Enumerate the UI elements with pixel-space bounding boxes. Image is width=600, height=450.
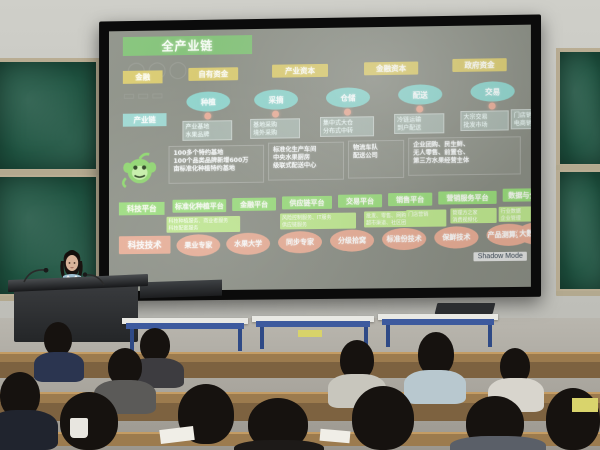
- info-panel-0: 100多个特约基地 100个品类品牌新增600万 亩标准化种植特约基地: [169, 145, 265, 184]
- chalk-tray-right-lower: [556, 291, 600, 296]
- projection-screen-frame: ◯◯◯ ▭▭▭ 全产业链 金融 自有资金 产业资本 金融资本 政府资金 产业链 …: [99, 14, 541, 301]
- row-label-industry-chain: 产业链: [123, 113, 167, 127]
- connector-dot-1: [272, 111, 279, 118]
- chalkboard-left-upper: [0, 58, 100, 173]
- student-body-a4: [404, 370, 466, 404]
- info-panel-3: 企业团购、民生鲜、 无人零售、前置仓、 第三方水果经营主体: [408, 136, 521, 176]
- platform-4: 销售平台: [388, 193, 432, 207]
- desk-leg-3b: [488, 325, 492, 347]
- platform-3: 交易平台: [338, 194, 382, 208]
- technology-2: 同步专家: [278, 231, 322, 253]
- finance-chip-2: 金融资本: [364, 61, 418, 75]
- student-body-a1: [34, 352, 84, 382]
- connector-dot-2: [344, 109, 351, 116]
- info-panel-2: 物流车队 配送公司: [348, 140, 404, 179]
- technology-1: 水果大学: [226, 233, 270, 255]
- desk-leg-2a: [260, 327, 264, 349]
- notes-paper-3: [572, 398, 598, 412]
- platform-sub-3: 门店营销: [406, 209, 446, 225]
- finance-chip-0: 自有资金: [188, 67, 238, 81]
- connector-dot-0: [204, 113, 211, 120]
- platform-sub-4: 管理方之家 消费视频化: [450, 208, 496, 224]
- student-body-b2: [0, 410, 58, 450]
- desk-front-3: [382, 319, 494, 325]
- podium: [14, 282, 138, 342]
- chain-oval-3: 配送: [398, 84, 442, 105]
- chain-detail-2: 集中式大仓 分布式中转: [320, 116, 374, 137]
- lecture-hall-photo: ◯◯◯ ▭▭▭ 全产业链 金融 自有资金 产业资本 金融资本 政府资金 产业链 …: [0, 0, 600, 450]
- platform-2: 供应链平台: [282, 196, 332, 210]
- student-head-a1: [44, 322, 72, 356]
- connector-dot-4: [489, 102, 496, 109]
- finance-chip-3: 政府资金: [452, 58, 506, 72]
- platform-5: 营销服务平台: [438, 191, 496, 205]
- chain-oval-4: 交易: [470, 81, 514, 102]
- desk-front-1: [126, 323, 244, 329]
- desk-leg-1b: [238, 329, 242, 351]
- chain-detail-0: 产业基地 水果品牌: [182, 120, 232, 141]
- desk-front-2: [256, 321, 370, 327]
- projection-screen-surface: ◯◯◯ ▭▭▭ 全产业链 金融 自有资金 产业资本 金融资本 政府资金 产业链 …: [109, 25, 531, 292]
- laptop-on-desk: [435, 303, 496, 314]
- platform-sub-1: 风险控制服务、IT服务 供应链服务: [280, 213, 356, 230]
- student-head-c1: [60, 392, 118, 450]
- desk-leg-3a: [386, 325, 390, 347]
- podium-side-table: [140, 280, 222, 299]
- platform-1: 金融平台: [232, 198, 276, 212]
- chalk-tray-right: [556, 165, 600, 170]
- chalkboard-right-lower: [556, 168, 600, 293]
- platform-sub-5: 行业数据 企业管理: [499, 206, 531, 221]
- finance-chip-1: 产业资本: [272, 64, 328, 78]
- student-body-c3: [234, 440, 324, 450]
- chain-oval-0: 种植: [186, 91, 230, 112]
- platform-sub-0: 科技种植服务、商业者服务 科技配套服务: [167, 216, 241, 233]
- student-body-c5: [450, 436, 546, 450]
- connector-dot-3: [416, 106, 423, 113]
- chain-detail-4: 大宗交易 批发市场: [460, 110, 508, 131]
- chain-oval-1: 采摘: [254, 89, 298, 110]
- green-monkey-mascot-icon: [119, 148, 161, 190]
- slide-title: 全产业链: [123, 35, 252, 56]
- info-panel-1: 标准化生产车间 中央水果厨房 级联式配送中心: [268, 142, 344, 181]
- cup-on-desk: [70, 418, 88, 438]
- row-label-technology: 科技技术: [119, 236, 171, 255]
- platform-0: 标准化种植平台: [172, 199, 226, 213]
- technology-5: 保鲜技术: [434, 226, 478, 249]
- shadow-mode-watermark: Shadow Mode: [474, 252, 527, 262]
- student-head-a2: [140, 328, 170, 362]
- chain-oval-2: 仓储: [326, 87, 370, 108]
- row-label-finance: 金融: [123, 70, 163, 84]
- microphone-left-icon: [22, 268, 62, 284]
- platform-6: 数据与分析平台: [503, 188, 531, 202]
- desk-leg-1a: [130, 329, 134, 351]
- presentation-slide: 全产业链 金融 自有资金 产业资本 金融资本 政府资金 产业链 种植 采摘 仓储…: [109, 25, 531, 292]
- chain-detail-3: 冷链运输 到户配送: [394, 113, 444, 134]
- technology-0: 果业专家: [176, 234, 220, 256]
- student-head-c4: [352, 386, 414, 450]
- chalkboard-right-upper: [556, 48, 600, 168]
- technology-4: 标准份技术: [382, 228, 426, 251]
- chalk-tray-left: [0, 170, 100, 175]
- notes-paper-2: [320, 429, 351, 444]
- chain-detail-1: 基地采购 境外采购: [250, 118, 300, 139]
- row-label-platform: 科技平台: [119, 202, 165, 216]
- chain-detail-5: 门店销售 电商销售: [511, 109, 531, 130]
- microphone-right-icon: [80, 272, 106, 286]
- technology-3: 分级拾窝: [330, 229, 374, 252]
- item-on-bench: [298, 330, 322, 337]
